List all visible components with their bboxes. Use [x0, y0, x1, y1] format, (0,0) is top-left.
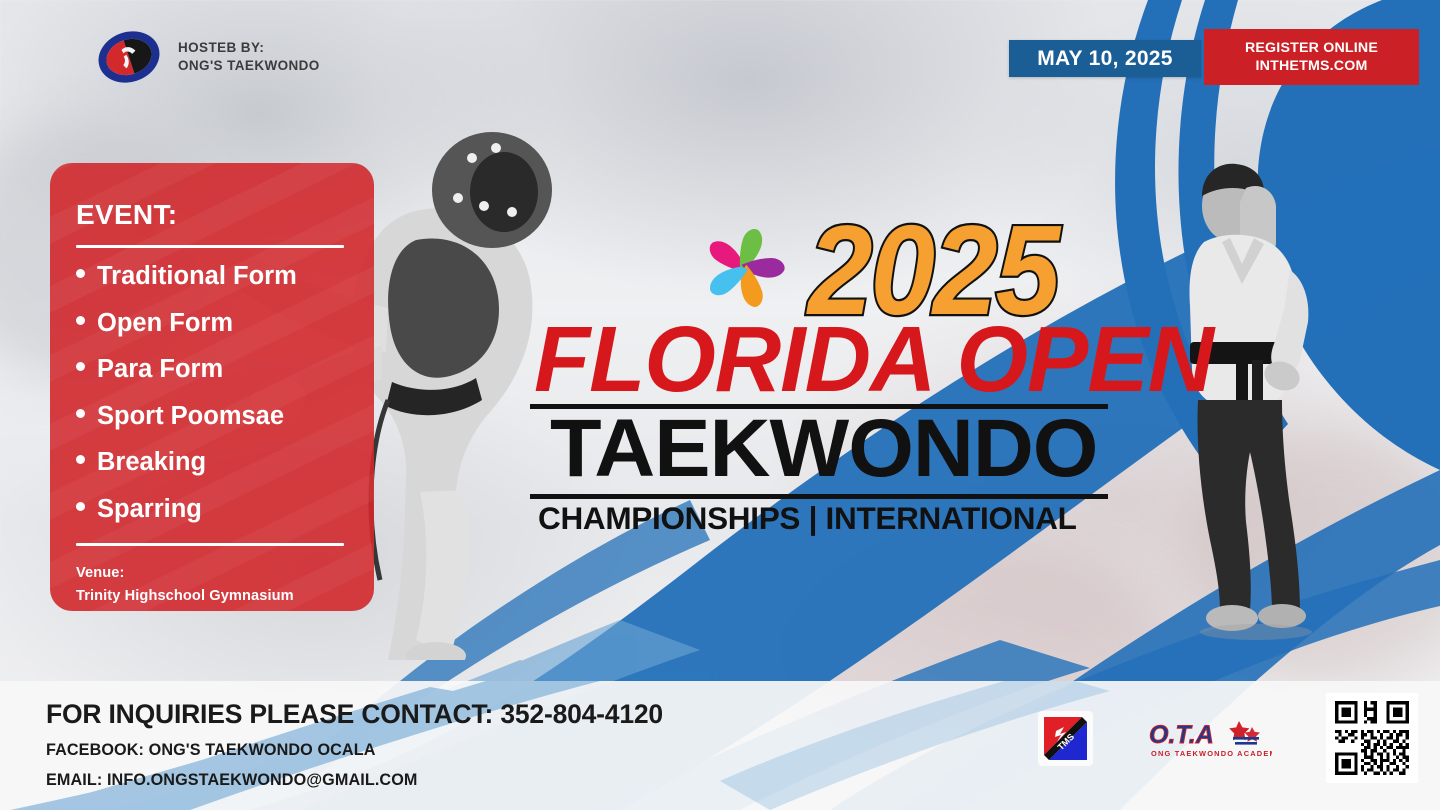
event-card: EVENT: Traditional Form Open Form Para F… [50, 163, 374, 611]
footer-logos: TMS O.T.A ONG TAEKWO [1038, 693, 1418, 783]
event-name: Sparring [97, 497, 202, 523]
ong-taekwondo-circle-logo [96, 28, 162, 86]
register-online-badge[interactable]: REGISTER ONLINE INTHETMS.COM [1204, 29, 1419, 85]
date-badge: MAY 10, 2025 [1009, 40, 1201, 77]
divider-top [76, 245, 344, 248]
bullet-icon [76, 362, 85, 371]
bullet-icon [76, 409, 85, 418]
headline-subtitle: CHAMPIONSHIPS | INTERNATIONAL [538, 500, 1077, 537]
venue-name: Trinity Highschool Gymnasium [76, 585, 346, 608]
footer-bar: FOR INQUIRIES PLEASE CONTACT: 352-804-41… [0, 681, 1440, 810]
host-text: HOSTEB BY: ONG'S TAEKWONDO [178, 39, 320, 75]
event-card-title: EVENT: [76, 199, 346, 231]
list-item: Traditional Form [76, 264, 346, 290]
ota-logo-icon: O.T.A ONG TAEKWONDO ACADEMY [1147, 715, 1272, 761]
event-list: Traditional Form Open Form Para Form Spo… [76, 264, 346, 522]
list-item: Breaking [76, 450, 346, 476]
event-name: Open Form [97, 311, 233, 337]
facebook-line: FACEBOOK: ONG'S TAEKWONDO OCALA [46, 741, 663, 760]
svg-text:ONG TAEKWONDO ACADEMY: ONG TAEKWONDO ACADEMY [1151, 749, 1272, 758]
headline-florida-open: FLORIDA OPEN [534, 313, 1213, 406]
bullet-icon [76, 269, 85, 278]
list-item: Open Form [76, 311, 346, 337]
qr-code-icon[interactable] [1326, 693, 1418, 783]
email-line: EMAIL: INFO.ONGSTAEKWONDO@GMAIL.COM [46, 771, 663, 790]
list-item: Sport Poomsae [76, 404, 346, 430]
list-item: Sparring [76, 497, 346, 523]
bullet-icon [76, 502, 85, 511]
event-name: Sport Poomsae [97, 404, 284, 430]
headline-taekwondo: TAEKWONDO [550, 408, 1097, 490]
list-item: Para Form [76, 357, 346, 383]
host-label: HOSTEB BY: [178, 39, 320, 57]
event-name: Traditional Form [97, 264, 297, 290]
register-line-2: INTHETMS.COM [1256, 57, 1368, 75]
venue-label: Venue: [76, 562, 346, 585]
venue-block: Venue: Trinity Highschool Gymnasium 2600… [76, 562, 346, 611]
divider-bottom [76, 543, 344, 546]
register-line-1: REGISTER ONLINE [1245, 39, 1378, 57]
event-name: Para Form [97, 357, 223, 383]
host-block: HOSTEB BY: ONG'S TAEKWONDO [96, 28, 320, 86]
bullet-icon [76, 455, 85, 464]
bullet-icon [76, 316, 85, 325]
tms-logo-icon: TMS [1038, 711, 1093, 766]
title-rule-bottom [530, 494, 1108, 499]
event-name: Breaking [97, 450, 206, 476]
svg-text:O.T.A: O.T.A [1149, 721, 1214, 749]
host-name: ONG'S TAEKWONDO [178, 57, 320, 75]
contact-line: FOR INQUIRIES PLEASE CONTACT: 352-804-41… [46, 699, 663, 730]
event-poster: HOSTEB BY: ONG'S TAEKWONDO MAY 10, 2025 … [0, 0, 1440, 810]
footer-text: FOR INQUIRIES PLEASE CONTACT: 352-804-41… [46, 699, 663, 790]
venue-address: 2600 SW 42nd St. Ocala 34471 [76, 607, 346, 611]
poomsae-pinwheel-logo [700, 224, 788, 312]
